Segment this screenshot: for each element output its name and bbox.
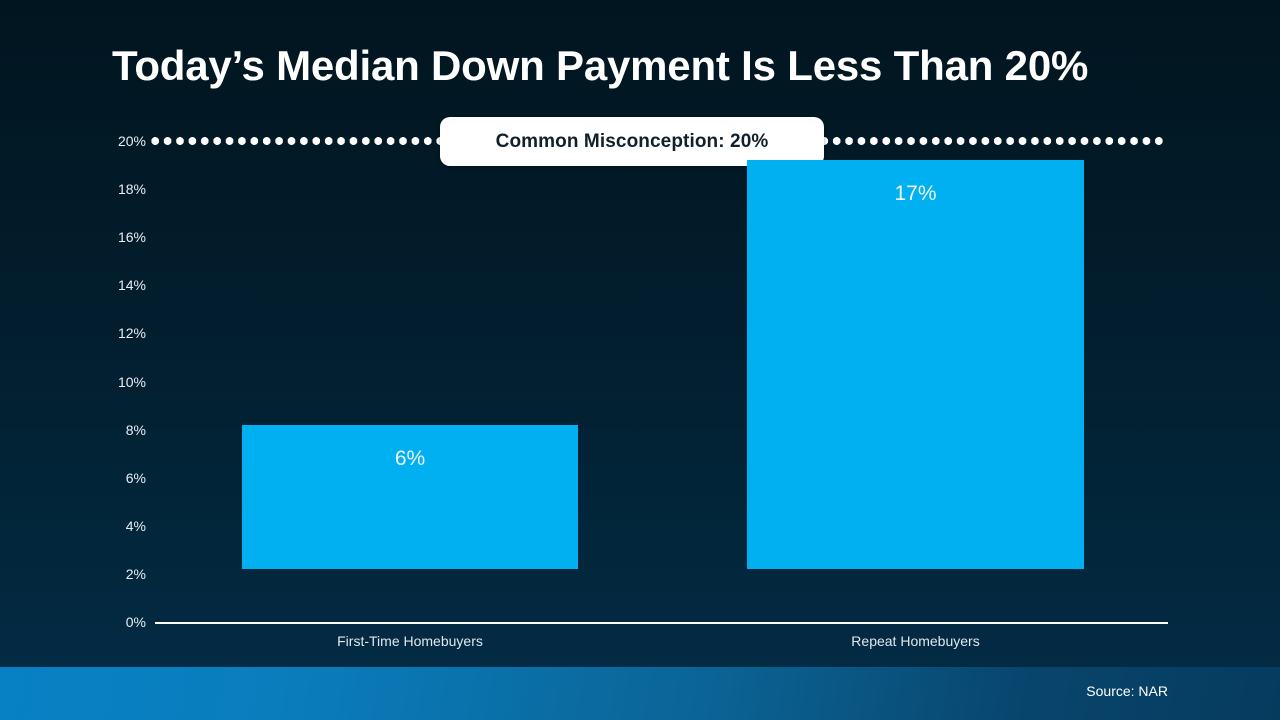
y-axis-tick-label: 12%: [26, 325, 146, 341]
y-axis-tick-label: 4%: [26, 518, 146, 534]
x-axis-category-label: Repeat Homebuyers: [851, 633, 979, 649]
y-axis-tick-label: 8%: [26, 422, 146, 438]
y-axis-tick-label: 6%: [26, 470, 146, 486]
y-axis-tick-label: 0%: [26, 614, 146, 630]
y-axis-tick-label: 16%: [26, 229, 146, 245]
bar-value-label: 6%: [395, 447, 425, 471]
misconception-callout: Common Misconception: 20%: [440, 117, 824, 166]
bar: [747, 160, 1084, 569]
bar-value-label: 17%: [894, 182, 936, 206]
slide-canvas: Today’s Median Down Payment Is Less Than…: [0, 0, 1280, 720]
y-axis-tick-label: 2%: [26, 566, 146, 582]
x-axis-baseline: [155, 622, 1168, 624]
bar-chart: 0%2%4%6%8%10%12%14%16%18%20% Common Misc…: [0, 0, 1280, 667]
y-axis-tick-label: 14%: [26, 277, 146, 293]
y-axis-tick-label: 18%: [26, 181, 146, 197]
misconception-callout-label: Common Misconception: 20%: [496, 131, 769, 153]
footer-bar: Source: NAR: [0, 667, 1280, 720]
y-axis-tick-label: 10%: [26, 374, 146, 390]
source-label: Source: NAR: [1086, 683, 1168, 699]
x-axis-category-label: First-Time Homebuyers: [337, 633, 483, 649]
y-axis-tick-label: 20%: [26, 133, 146, 149]
